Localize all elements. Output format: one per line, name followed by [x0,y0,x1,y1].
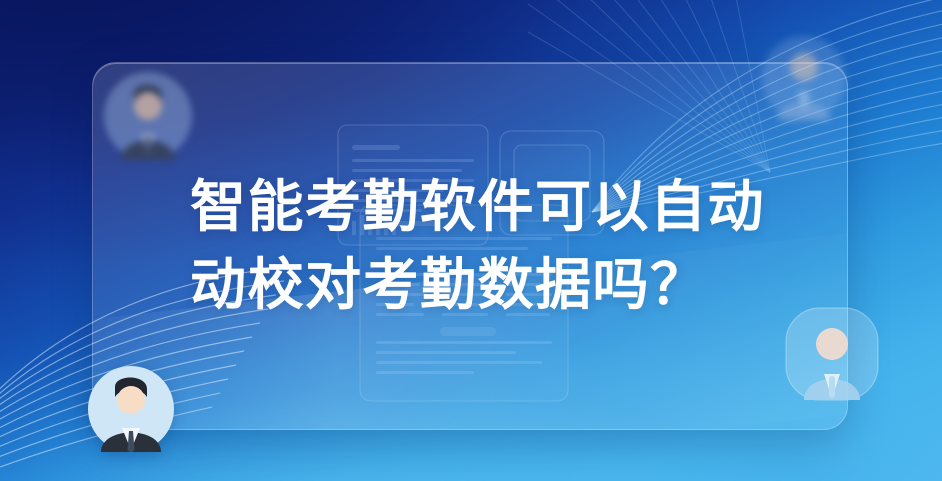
headline-line-2: 动校对考勤数据吗？ [190,246,830,324]
headline-line-1: 智能考勤软件可以自动 [190,168,830,246]
banner-headline: 智能考勤软件可以自动 动校对考勤数据吗？ [190,168,830,324]
promo-banner: 智能考勤软件可以自动 动校对考勤数据吗？ [0,0,942,481]
